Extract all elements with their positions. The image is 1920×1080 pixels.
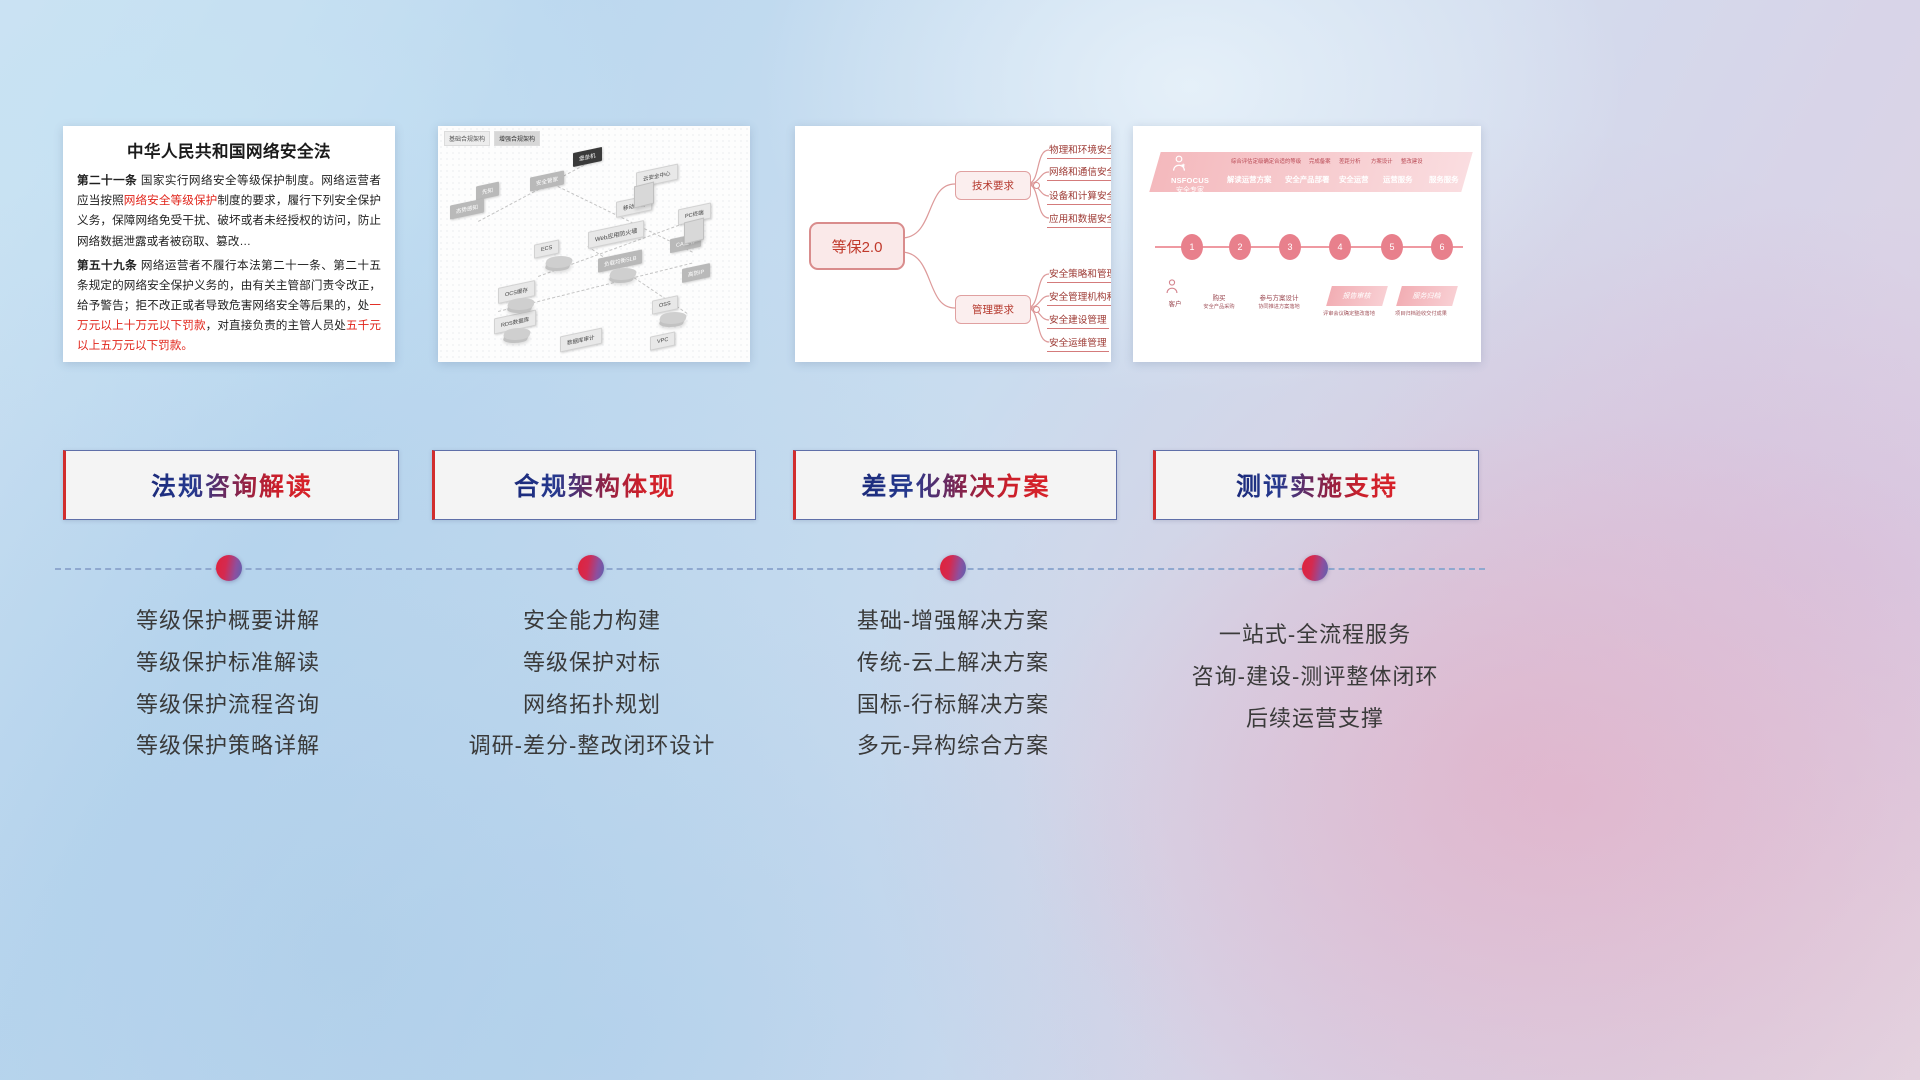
arch-node-db-audit: 数据库审计 bbox=[560, 328, 602, 353]
roadmap-step-4: 4 bbox=[1329, 234, 1351, 260]
mindmap-item-mgmt-4: 安全运维管理 bbox=[1047, 335, 1109, 352]
architecture-tab-enhanced[interactable]: 增强合规架构 bbox=[494, 131, 540, 146]
list-item: 等级保护流程咨询 bbox=[60, 684, 396, 726]
list-item: 传统-云上解决方案 bbox=[790, 642, 1116, 684]
mindmap-item-tech-4: 应用和数据安全 bbox=[1047, 211, 1111, 228]
banner-compliance-architecture[interactable]: 合规架构体现 bbox=[432, 450, 756, 520]
roadmap-service-3: 安全运营 bbox=[1339, 174, 1369, 185]
arch-node-situation: 态势感知 bbox=[450, 198, 484, 219]
roadmap-person-customer-label: 客户 bbox=[1155, 298, 1195, 308]
arch-node-guardian: 安全管家 bbox=[530, 170, 564, 191]
roadmap-service-1: 解读运营方案 bbox=[1227, 174, 1271, 185]
list-item: 等级保护标准解读 bbox=[60, 642, 396, 684]
timeline-dot-3[interactable] bbox=[940, 555, 966, 581]
list-item: 后续运营支撑 bbox=[1150, 698, 1480, 740]
banner-assessment-support[interactable]: 测评实施支持 bbox=[1153, 450, 1479, 520]
list-item: 国标-行标解决方案 bbox=[790, 684, 1116, 726]
roadmap-canvas: NSFOCUS 安全专家 综合评估定级确定合适的等级 完成备案 差距分析 方案设… bbox=[1133, 126, 1481, 362]
mindmap-item-tech-2: 网络和通信安全 bbox=[1047, 164, 1111, 181]
list-item: 等级保护概要讲解 bbox=[60, 600, 396, 642]
timeline-dot-1[interactable] bbox=[216, 555, 242, 581]
list-item: 基础-增强解决方案 bbox=[790, 600, 1116, 642]
architecture-tabs: 基础合规架构 增强合规架构 bbox=[444, 131, 540, 146]
expert-person-icon bbox=[1169, 154, 1189, 174]
law-article-21-label: 第二十一条 bbox=[77, 174, 137, 187]
list-item: 网络拓扑规划 bbox=[430, 684, 754, 726]
card-architecture-diagram[interactable]: 基础合规架构 增强合规架构 堡垒机 安全管家 先知 态势感知 云安全中心 移动终… bbox=[438, 126, 750, 362]
roadmap-step-3: 3 bbox=[1279, 234, 1301, 260]
arch-cylinder-icon bbox=[544, 256, 574, 268]
arch-node-vpc: VPC bbox=[650, 331, 675, 350]
law-article-21-highlight: 网络安全等级保护 bbox=[124, 194, 218, 207]
arch-cylinder-icon bbox=[506, 298, 536, 310]
roadmap-action-buy-sub: 安全产品采购 bbox=[1199, 303, 1239, 310]
roadmap-tag-archive: 服务归档 bbox=[1396, 286, 1458, 306]
law-title: 中华人民共和国网络安全法 bbox=[77, 138, 381, 162]
timeline-dot-2[interactable] bbox=[578, 555, 604, 581]
roadmap-service-4: 运营服务 bbox=[1383, 174, 1413, 185]
timeline bbox=[0, 568, 1920, 569]
mindmap-node-dot bbox=[1033, 306, 1040, 313]
banner-label-2: 合规架构体现 bbox=[514, 467, 676, 503]
mindmap-item-mgmt-2: 安全管理机构和人员 bbox=[1047, 289, 1111, 306]
arch-server-icon bbox=[684, 218, 704, 245]
mindmap-item-mgmt-3: 安全建设管理 bbox=[1047, 312, 1109, 329]
roadmap-brand-name: NSFOCUS bbox=[1163, 176, 1217, 185]
list-item: 咨询-建设-测评整体闭环 bbox=[1150, 656, 1480, 698]
mindmap-item-mgmt-1: 安全策略和管理制度 bbox=[1047, 266, 1111, 283]
arch-node-waf: Web应用防火墙 bbox=[588, 220, 644, 249]
roadmap-action-design-label: 参与方案设计 bbox=[1247, 292, 1311, 302]
banner-label-1: 法规咨询解读 bbox=[151, 467, 313, 503]
mindmap-canvas: 等保2.0 技术要求 物理和环境安全 网络和通信安全 设备和计算安全 应用和数据… bbox=[795, 126, 1111, 362]
mindmap-item-tech-3: 设备和计算安全 bbox=[1047, 188, 1111, 205]
timeline-dot-4[interactable] bbox=[1302, 555, 1328, 581]
roadmap-action-design-sub: 协同推进方案落地 bbox=[1247, 303, 1311, 310]
roadmap-step-1: 1 bbox=[1181, 234, 1203, 260]
roadmap-tag-review-sub: 评审会议确定整改落地 bbox=[1323, 310, 1375, 317]
roadmap-action-design: 参与方案设计 协同推进方案落地 bbox=[1247, 290, 1311, 309]
law-article-59: 第五十九条 网络运营者不履行本法第二十一条、第二十五条规定的网络安全保护义务的，… bbox=[77, 256, 381, 357]
law-article-59-mid: ，对直接负责的主管人员处 bbox=[206, 319, 346, 332]
banner-differentiated-solution[interactable]: 差异化解决方案 bbox=[793, 450, 1117, 520]
list-item: 调研-差分-整改闭环设计 bbox=[430, 725, 754, 767]
arch-node-anti-ddos: 高防IP bbox=[682, 263, 710, 283]
mindmap-root-node: 等保2.0 bbox=[809, 222, 905, 270]
roadmap-service-5: 服务服务 bbox=[1429, 174, 1459, 185]
roadmap-action-buy-label: 购买 bbox=[1199, 292, 1239, 302]
banner-label-3: 差异化解决方案 bbox=[861, 467, 1050, 503]
arch-cylinder-icon bbox=[658, 312, 688, 324]
roadmap-tag-archive-sub: 项目归档验收交付成果 bbox=[1395, 310, 1447, 317]
roadmap-top-label-4: 方案设计 bbox=[1371, 157, 1393, 165]
arch-cylinder-icon bbox=[502, 328, 532, 340]
list-item: 一站式-全流程服务 bbox=[1150, 614, 1480, 656]
roadmap-top-label-3: 差距分析 bbox=[1339, 157, 1361, 165]
image-cards-row: 中华人民共和国网络安全法 第二十一条 国家实行网络安全等级保护制度。网络运营者应… bbox=[0, 126, 1920, 368]
roadmap-brand-sub: 安全专家 bbox=[1163, 185, 1217, 195]
list-column-3: 基础-增强解决方案 传统-云上解决方案 国标-行标解决方案 多元-异构综合方案 bbox=[790, 600, 1116, 767]
card-law-text[interactable]: 中华人民共和国网络安全法 第二十一条 国家实行网络安全等级保护制度。网络运营者应… bbox=[63, 126, 395, 362]
architecture-canvas: 基础合规架构 增强合规架构 堡垒机 安全管家 先知 态势感知 云安全中心 移动终… bbox=[438, 126, 750, 362]
card-mindmap[interactable]: 等保2.0 技术要求 物理和环境安全 网络和通信安全 设备和计算安全 应用和数据… bbox=[795, 126, 1111, 362]
architecture-tab-basic[interactable]: 基础合规架构 bbox=[444, 131, 490, 146]
mindmap-node-dot bbox=[1033, 182, 1040, 189]
roadmap-step-2: 2 bbox=[1229, 234, 1251, 260]
roadmap-brand: NSFOCUS 安全专家 bbox=[1163, 176, 1217, 195]
list-item: 多元-异构综合方案 bbox=[790, 725, 1116, 767]
mindmap-branch-technical: 技术要求 bbox=[955, 171, 1031, 200]
roadmap-top-label-1: 综合评估定级确定合适的等级 bbox=[1231, 157, 1301, 165]
list-column-2: 安全能力构建 等级保护对标 网络拓扑规划 调研-差分-整改闭环设计 bbox=[430, 600, 754, 767]
list-item: 安全能力构建 bbox=[430, 600, 754, 642]
law-article-59-label: 第五十九条 bbox=[77, 259, 137, 272]
arch-node-xianzhi: 先知 bbox=[476, 182, 499, 201]
banner-label-4: 测评实施支持 bbox=[1236, 467, 1398, 503]
customer-person-icon bbox=[1163, 278, 1181, 296]
timeline-dashed-line bbox=[55, 568, 1485, 570]
roadmap-step-5: 5 bbox=[1381, 234, 1403, 260]
roadmap-top-label-5: 整改建设 bbox=[1401, 157, 1423, 165]
roadmap-tag-review: 报告审核 bbox=[1326, 286, 1388, 306]
mindmap-item-tech-1: 物理和环境安全 bbox=[1047, 142, 1111, 159]
roadmap-top-label-2: 完成备案 bbox=[1309, 157, 1331, 165]
list-item: 等级保护策略详解 bbox=[60, 725, 396, 767]
list-column-1: 等级保护概要讲解 等级保护标准解读 等级保护流程咨询 等级保护策略详解 bbox=[60, 600, 396, 767]
roadmap-service-2: 安全产品部署 bbox=[1285, 174, 1329, 185]
list-column-4: 一站式-全流程服务 咨询-建设-测评整体闭环 后续运营支撑 bbox=[1150, 614, 1480, 739]
roadmap-person-customer: 客户 bbox=[1155, 296, 1195, 308]
mindmap-branch-management: 管理要求 bbox=[955, 295, 1031, 324]
section-banners: 法规咨询解读 合规架构体现 差异化解决方案 测评实施支持 bbox=[0, 450, 1920, 520]
law-body: 中华人民共和国网络安全法 第二十一条 国家实行网络安全等级保护制度。网络运营者应… bbox=[63, 126, 395, 362]
law-article-21: 第二十一条 国家实行网络安全等级保护制度。网络运营者应当按照网络安全等级保护制度… bbox=[77, 171, 381, 252]
banner-regulation-consulting[interactable]: 法规咨询解读 bbox=[63, 450, 399, 520]
card-roadmap[interactable]: NSFOCUS 安全专家 综合评估定级确定合适的等级 完成备案 差距分析 方案设… bbox=[1133, 126, 1481, 362]
roadmap-step-6: 6 bbox=[1431, 234, 1453, 260]
list-item: 等级保护对标 bbox=[430, 642, 754, 684]
roadmap-action-buy: 购买 安全产品采购 bbox=[1199, 290, 1239, 309]
